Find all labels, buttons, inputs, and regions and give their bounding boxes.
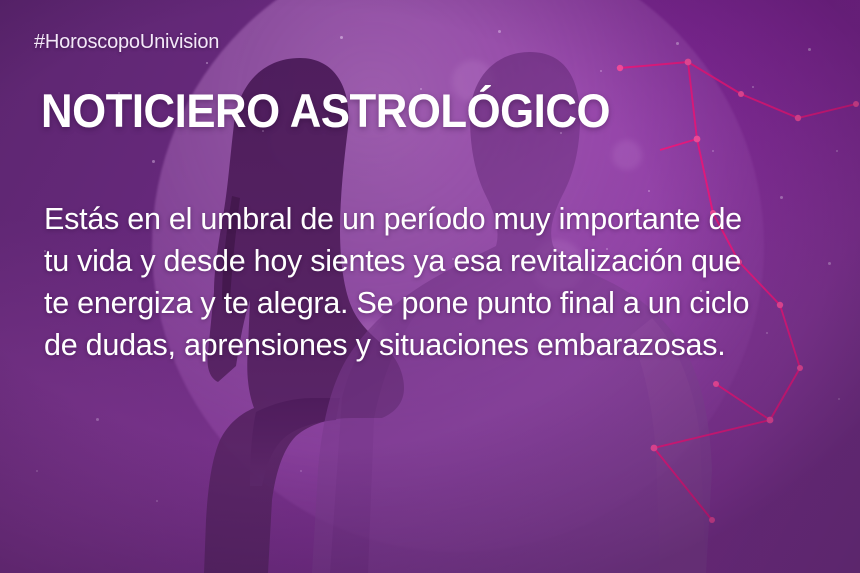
body-line: te energiza y te alegra. Se pone punto f… <box>44 282 844 324</box>
body-line: Estás en el umbral de un período muy imp… <box>44 198 844 240</box>
horoscope-body-text: Estás en el umbral de un período muy imp… <box>44 198 844 366</box>
hashtag-label: #HoroscopoUnivision <box>34 31 219 54</box>
horoscope-card: #HoroscopoUnivision NOTICIERO ASTROLÓGIC… <box>0 0 860 573</box>
body-line: tu vida y desde hoy sientes ya esa revit… <box>44 240 844 282</box>
body-line: de dudas, aprensiones y situaciones emba… <box>44 324 844 366</box>
page-title: NOTICIERO ASTROLÓGICO <box>41 86 610 136</box>
